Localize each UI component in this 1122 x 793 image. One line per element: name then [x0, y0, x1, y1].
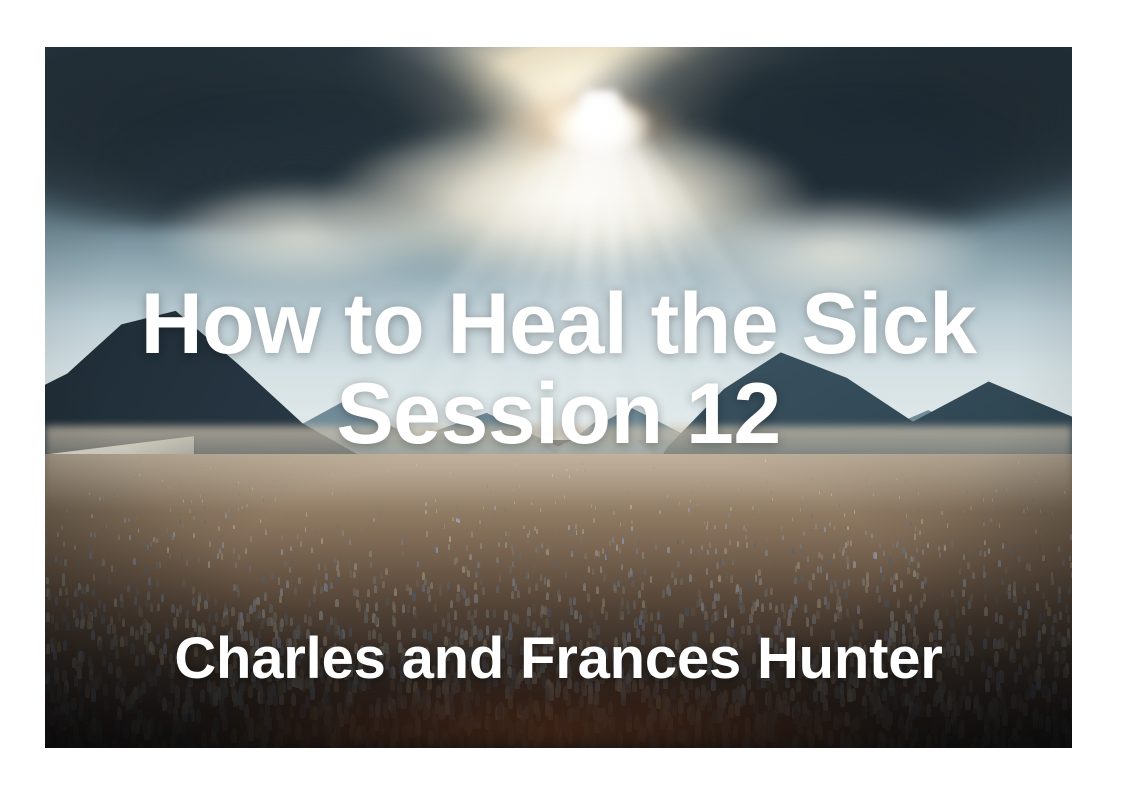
- title-line-2: Session 12: [45, 369, 1072, 459]
- author-credit: Charles and Frances Hunter: [45, 627, 1072, 691]
- background-photo: How to Heal the Sick Session 12 Charles …: [45, 47, 1072, 748]
- title-slide: How to Heal the Sick Session 12 Charles …: [0, 0, 1122, 793]
- page-title: How to Heal the Sick Session 12: [45, 279, 1072, 460]
- text-overlay: How to Heal the Sick Session 12 Charles …: [45, 47, 1072, 748]
- title-line-1: How to Heal the Sick: [45, 279, 1072, 369]
